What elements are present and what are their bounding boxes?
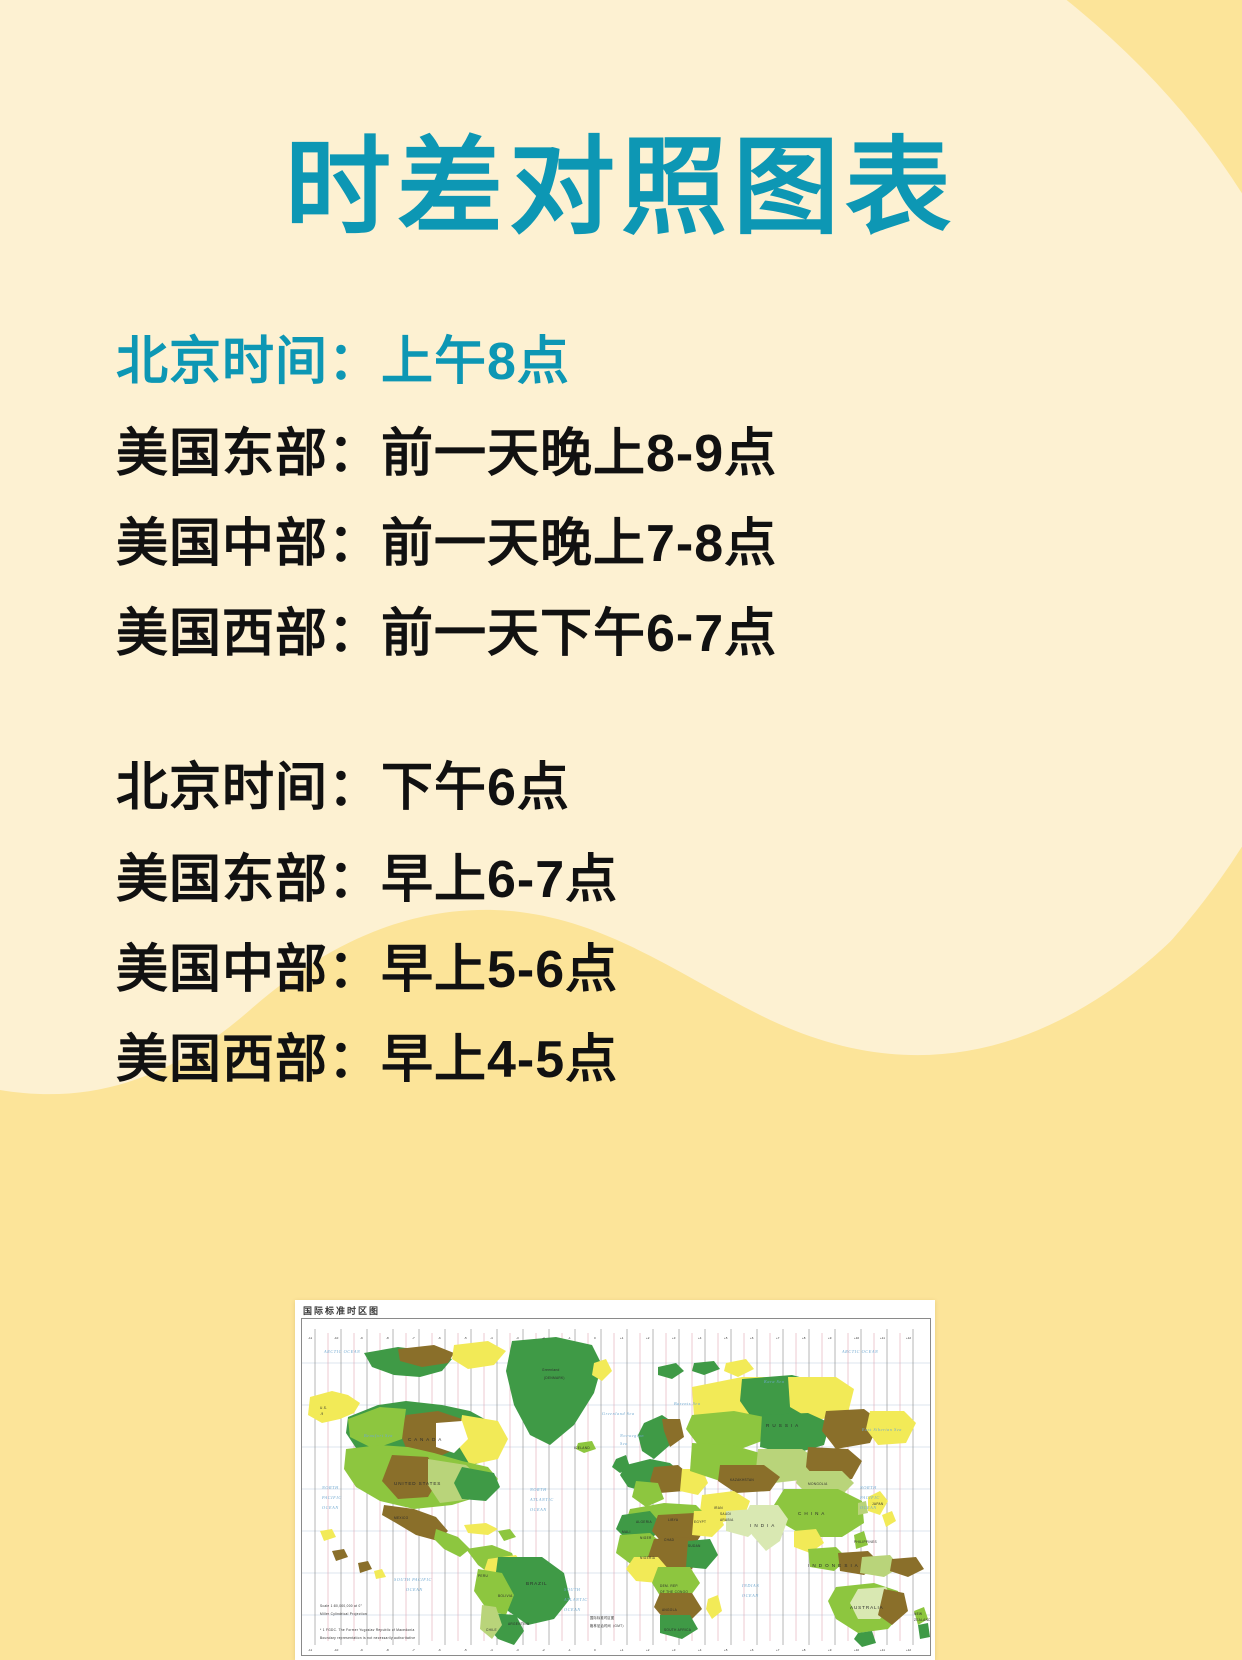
page-title: 时差对照图表 [0, 126, 1242, 251]
svg-text:+4: +4 [698, 1648, 702, 1652]
svg-text:ATLANTIC: ATLANTIC [563, 1597, 588, 1602]
svg-text:+2: +2 [646, 1648, 650, 1652]
svg-text:Norwegian: Norwegian [619, 1433, 644, 1438]
svg-text:+11: +11 [880, 1336, 885, 1340]
svg-text:Beaufort Sea: Beaufort Sea [364, 1433, 393, 1438]
svg-text:+1: +1 [620, 1648, 624, 1652]
svg-text:+11: +11 [880, 1648, 885, 1652]
svg-text:-3: -3 [516, 1648, 519, 1652]
svg-text:(DENMARK): (DENMARK) [544, 1376, 565, 1380]
content-lines: 北京时间：上午8点 美国东部：前一天晚上8-9点 美国中部：前一天晚上7-8点 … [116, 336, 1116, 1086]
svg-text:+5: +5 [724, 1336, 728, 1340]
svg-text:JAPAN: JAPAN [872, 1502, 884, 1506]
svg-text:I N D O N E S I A: I N D O N E S I A [808, 1563, 859, 1568]
svg-text:ATLANTIC: ATLANTIC [529, 1497, 554, 1502]
svg-text:East Siberian Sea: East Siberian Sea [861, 1427, 902, 1432]
svg-text:OCEAN: OCEAN [406, 1587, 423, 1592]
svg-text:PHILIPPINES: PHILIPPINES [854, 1540, 877, 1544]
svg-text:KAZAKHSTAN: KAZAKHSTAN [730, 1478, 754, 1482]
svg-text:LIBYA: LIBYA [668, 1518, 679, 1522]
svg-text:OCEAN: OCEAN [742, 1593, 759, 1598]
svg-text:-8: -8 [386, 1648, 389, 1652]
svg-text:SOUTH AFRICA: SOUTH AFRICA [664, 1628, 692, 1632]
section-gap [116, 660, 1116, 762]
svg-text:-5: -5 [464, 1648, 467, 1652]
svg-text:SOUTH PACIFIC: SOUTH PACIFIC [394, 1577, 432, 1582]
section-1-item-west: 美国西部：前一天下午6-7点 [116, 608, 1116, 660]
svg-text:-6: -6 [438, 1336, 441, 1340]
section-1-item-central: 美国中部：前一天晚上7-8点 [116, 518, 1116, 570]
svg-text:Scale 1:80,000,000 at 0°: Scale 1:80,000,000 at 0° [320, 1604, 363, 1608]
svg-text:Miller Cylindrical Projection: Miller Cylindrical Projection [320, 1612, 367, 1616]
svg-text:CHILE: CHILE [486, 1628, 497, 1632]
svg-text:ZEALAND: ZEALAND [914, 1618, 930, 1622]
svg-text:* 1 FGDC. The Former Yugoslav: * 1 FGDC. The Former Yugoslav Republic o… [320, 1628, 415, 1632]
section-2-item-central: 美国中部：早上5-6点 [116, 944, 1116, 996]
svg-text:-1: -1 [568, 1648, 571, 1652]
svg-text:+10: +10 [854, 1648, 859, 1652]
section-heading-1: 北京时间：上午8点 [116, 336, 1116, 388]
svg-text:C A N A D A: C A N A D A [408, 1437, 442, 1442]
svg-text:PACIFIC: PACIFIC [321, 1495, 342, 1500]
world-time-zone-map: 国际标准时区图 .oc { fill:#ffffff; } .gA { fill… [295, 1300, 935, 1660]
svg-text:NEW: NEW [914, 1612, 922, 1616]
svg-text:-10: -10 [334, 1336, 339, 1340]
svg-text:ANGOLA: ANGOLA [662, 1608, 678, 1612]
map-graphic: .oc { fill:#ffffff; } .gA { fill:#3f9a46… [302, 1319, 930, 1655]
section-2-item-west: 美国西部：早上4-5点 [116, 1034, 1116, 1086]
svg-text:I N D I A: I N D I A [750, 1523, 775, 1528]
svg-text:ARCTIC OCEAN: ARCTIC OCEAN [323, 1349, 360, 1354]
svg-text:-5: -5 [464, 1336, 467, 1340]
svg-text:OCEAN: OCEAN [322, 1505, 339, 1510]
svg-text:SOUTH: SOUTH [564, 1587, 581, 1592]
svg-text:-4: -4 [490, 1648, 493, 1652]
svg-text:U.S.: U.S. [320, 1406, 327, 1410]
svg-text:ALGERIA: ALGERIA [636, 1520, 652, 1524]
svg-text:Greenland: Greenland [542, 1368, 560, 1372]
svg-text:ARCTIC OCEAN: ARCTIC OCEAN [841, 1349, 878, 1354]
map-title: 国际标准时区图 [303, 1304, 380, 1317]
svg-text:+1: +1 [620, 1336, 624, 1340]
svg-text:+8: +8 [802, 1648, 806, 1652]
svg-text:R U S S I A: R U S S I A [766, 1423, 799, 1428]
svg-text:MEXICO: MEXICO [394, 1516, 409, 1520]
section-2-item-east: 美国东部：早上6-7点 [116, 854, 1116, 906]
svg-text:Greenland Sea: Greenland Sea [602, 1411, 635, 1416]
svg-text:ARABIA: ARABIA [720, 1518, 734, 1522]
svg-text:BRAZIL: BRAZIL [526, 1581, 547, 1586]
svg-text:PERU: PERU [478, 1574, 488, 1578]
svg-text:NORTH: NORTH [529, 1487, 547, 1492]
svg-text:NIGER: NIGER [640, 1536, 652, 1540]
svg-text:-7: -7 [412, 1336, 415, 1340]
svg-text:IRAN: IRAN [714, 1506, 723, 1510]
svg-text:-3: -3 [516, 1336, 519, 1340]
svg-text:-2: -2 [542, 1648, 545, 1652]
svg-text:+2: +2 [646, 1336, 650, 1340]
svg-text:-10: -10 [334, 1648, 339, 1652]
map-frame: .oc { fill:#ffffff; } .gA { fill:#3f9a46… [301, 1318, 931, 1656]
svg-text:BOLIVIA: BOLIVIA [498, 1594, 513, 1598]
svg-text:+5: +5 [724, 1648, 728, 1652]
svg-text:-4: -4 [490, 1336, 493, 1340]
svg-text:OCEAN: OCEAN [530, 1507, 547, 1512]
svg-text:+3: +3 [672, 1648, 676, 1652]
svg-text:NORTH: NORTH [321, 1485, 339, 1490]
svg-text:+6: +6 [750, 1648, 754, 1652]
svg-text:+4: +4 [698, 1336, 702, 1340]
svg-text:+6: +6 [750, 1336, 754, 1340]
svg-text:SAUDI: SAUDI [720, 1512, 731, 1516]
svg-text:INDIAN: INDIAN [741, 1583, 760, 1588]
svg-text:MONGOLIA: MONGOLIA [808, 1482, 828, 1486]
svg-text:+9: +9 [828, 1648, 832, 1652]
svg-text:MALI: MALI [622, 1530, 631, 1534]
svg-text:NIGERIA: NIGERIA [640, 1556, 656, 1560]
svg-text:SUDAN: SUDAN [688, 1544, 701, 1548]
svg-text:ARGENTINA: ARGENTINA [508, 1622, 530, 1626]
svg-text:C H I N A: C H I N A [798, 1511, 825, 1516]
section-heading-2: 北京时间：下午6点 [116, 762, 1116, 814]
svg-text:UNITED STATES: UNITED STATES [394, 1481, 441, 1486]
svg-text:Kara Sea: Kara Sea [763, 1379, 785, 1384]
svg-text:-9: -9 [360, 1648, 363, 1652]
section-1-item-east: 美国东部：前一天晚上8-9点 [116, 428, 1116, 480]
poster-root: 时差对照图表 北京时间：上午8点 美国东部：前一天晚上8-9点 美国中部：前一天… [0, 0, 1242, 1660]
svg-text:Barents Sea: Barents Sea [674, 1401, 701, 1406]
svg-text:+12: +12 [906, 1336, 911, 1340]
svg-text:-8: -8 [386, 1336, 389, 1340]
svg-text:+12: +12 [906, 1648, 911, 1652]
svg-text:-1: -1 [568, 1336, 571, 1340]
svg-text:Sea: Sea [620, 1441, 628, 1446]
svg-text:Boundary representation is not: Boundary representation is not necessari… [320, 1636, 415, 1640]
svg-text:+10: +10 [854, 1336, 859, 1340]
svg-text:+7: +7 [776, 1648, 780, 1652]
svg-text:OF THE CONGO: OF THE CONGO [660, 1590, 688, 1594]
svg-text:CHAD: CHAD [664, 1538, 675, 1542]
svg-text:-7: -7 [412, 1648, 415, 1652]
svg-text:+3: +3 [672, 1336, 676, 1340]
svg-text:PACIFIC: PACIFIC [859, 1495, 880, 1500]
svg-text:+8: +8 [802, 1336, 806, 1340]
svg-text:+7: +7 [776, 1336, 780, 1340]
svg-text:+9: +9 [828, 1336, 832, 1340]
svg-text:DEM. REP.: DEM. REP. [660, 1584, 679, 1588]
svg-text:-9: -9 [360, 1336, 363, 1340]
svg-text:国际标准时区图: 国际标准时区图 [590, 1615, 614, 1620]
svg-text:-11: -11 [308, 1648, 312, 1652]
svg-text:EGYPT: EGYPT [694, 1520, 706, 1524]
svg-text:ICELAND: ICELAND [574, 1446, 590, 1450]
svg-text:-11: -11 [308, 1336, 312, 1340]
svg-text:OCEAN: OCEAN [564, 1607, 581, 1612]
svg-text:AUSTRALIA: AUSTRALIA [850, 1605, 884, 1610]
svg-text:-6: -6 [438, 1648, 441, 1652]
svg-text:NORTH: NORTH [859, 1485, 877, 1490]
svg-text:格林尼治时间（GMT）: 格林尼治时间（GMT） [590, 1623, 626, 1628]
svg-text:-9: -9 [320, 1412, 323, 1416]
svg-text:-2: -2 [542, 1336, 545, 1340]
